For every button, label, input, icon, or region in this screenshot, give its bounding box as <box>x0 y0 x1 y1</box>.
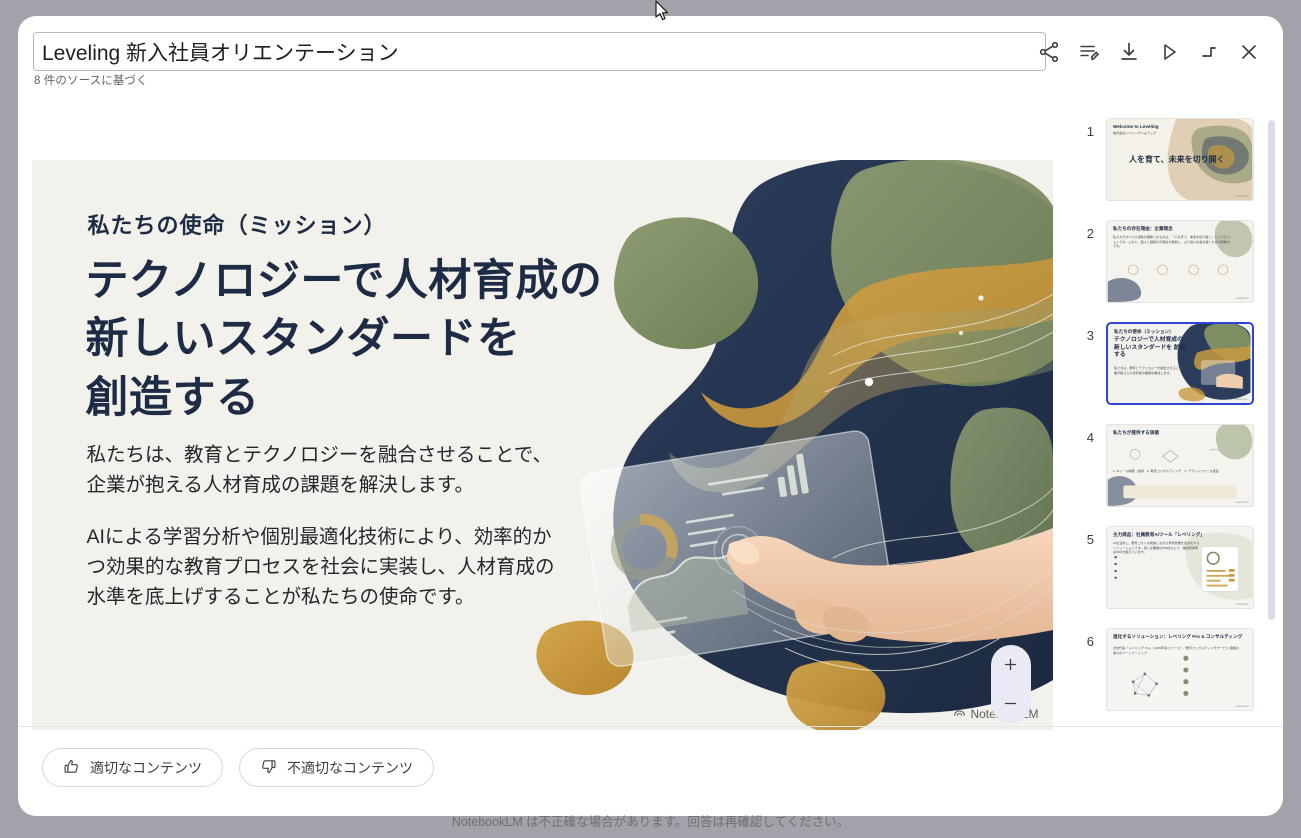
thumbnail-number: 4 <box>1076 424 1094 445</box>
slide-stage: 私たちの使命（ミッション） テクノロジーで人材育成の 新しいスタンダードを 創造… <box>18 106 1066 726</box>
share-icon <box>1037 40 1061 64</box>
thumbnail-footer: Leveling Inc. <box>1236 501 1249 504</box>
thumbnail-number: 5 <box>1076 526 1094 547</box>
thumbnail-title: 私たちが提供する価値 <box>1113 430 1219 436</box>
thumbnail-subtitle: 1. AIツール開発・提供 2. 教育コンサルティング 3. プラットフォーム運… <box>1113 469 1243 474</box>
thumbs-up-button[interactable]: 適切なコンテンツ <box>42 748 223 787</box>
thumbnail-number: 1 <box>1076 118 1094 139</box>
thumbnail-footer: Leveling Inc. <box>1236 705 1249 708</box>
thumbnail-big-text: 人を育て、未来を切り開く <box>1129 155 1225 165</box>
thumbnail-slide-5[interactable]: 主力商品：社員教育AIツール「レベリング」 AIを活用し、教育コストを削減しなが… <box>1106 526 1254 609</box>
thumbnail-footer: Leveling Inc. <box>1236 195 1249 198</box>
slide-paragraph-1: 私たちは、教育とテクノロジーを融合させることで、 企業が抱える人材育成の課題を解… <box>87 440 552 500</box>
thumbs-down-label: 不適切なコンテンツ <box>287 758 413 778</box>
thumbnail-subtitle: 私たちは、教育とテクノロジーを融合させることで、企業が抱える人材育成の課題を解決… <box>1114 366 1192 375</box>
thumbs-down-icon <box>260 758 277 778</box>
close-button[interactable] <box>1229 32 1269 72</box>
thumbnail-big-text: テクノロジーで人材育成の 新しいスタンダードを 創造する <box>1114 337 1186 360</box>
dialog-footer: 適切なコンテンツ 不適切なコンテンツ <box>18 726 1283 816</box>
collapse-icon <box>1197 40 1221 64</box>
slide-thumbnail-rail[interactable]: 1 Welcome to Leveling 株式会社レベリングへようこそ 人を育… <box>1066 106 1283 726</box>
thumbnail-number: 3 <box>1076 322 1094 343</box>
dialog-header: 8 件のソースに基づく <box>18 16 1283 106</box>
edit-list-icon <box>1077 40 1101 64</box>
thumbnail-row[interactable]: 3 私たちの使命（ミッション） テクノロジーで人材育成の 新しいスタンダードを … <box>1066 322 1283 405</box>
thumbnail-title: 主力商品：社員教育AIツール「レベリング」 <box>1113 532 1219 538</box>
notebooklm-logo-icon <box>953 706 966 722</box>
thumbnail-subtitle: AIを活用し、教育コストを削減しながら学習効果を最大化するソリューションです。導… <box>1113 541 1201 555</box>
current-slide[interactable]: 私たちの使命（ミッション） テクノロジーで人材育成の 新しいスタンダードを 創造… <box>32 160 1053 730</box>
thumbnail-slide-1[interactable]: Welcome to Leveling 株式会社レベリングへようこそ 人を育て、… <box>1106 118 1254 201</box>
play-icon <box>1157 40 1181 64</box>
thumbnail-footer: Leveling Inc. <box>1235 398 1248 401</box>
slide-paragraph-2: AIによる学習分析や個別最適化技術により、効率的か つ効果的な教育プロセスを社会… <box>87 522 555 613</box>
thumbnail-number: 6 <box>1076 628 1094 649</box>
dialog-body: 私たちの使命（ミッション） テクノロジーで人材育成の 新しいスタンダードを 創造… <box>18 106 1283 726</box>
zoom-in-button[interactable] <box>994 648 1028 682</box>
thumbnail-scrollbar[interactable] <box>1268 120 1275 620</box>
collapse-button[interactable] <box>1189 32 1229 72</box>
slide-headline: テクノロジーで人材育成の 新しいスタンダードを 創造する <box>86 252 603 427</box>
zoom-out-button[interactable] <box>994 687 1028 721</box>
thumbnail-footer: Leveling Inc. <box>1236 297 1249 300</box>
thumbnail-slide-4[interactable]: 私たちが提供する価値 1. AIツール開発・提供 2. 教育コンサルティング 3… <box>1106 424 1254 507</box>
thumbnail-subtitle: 私たちがすべての活動の根幹となるのは、「人を育て、未来を切り開く」というビジョン… <box>1113 235 1233 249</box>
thumbs-down-button[interactable]: 不適切なコンテンツ <box>239 748 434 787</box>
feedback-bar: 適切なコンテンツ 不適切なコンテンツ <box>42 748 434 787</box>
thumbnail-footer: Leveling Inc. <box>1236 603 1249 606</box>
slide-eyebrow: 私たちの使命（ミッション） <box>88 208 387 240</box>
edit-outline-button[interactable] <box>1069 32 1109 72</box>
download-button[interactable] <box>1109 32 1149 72</box>
share-button[interactable] <box>1029 32 1069 72</box>
thumbnail-subtitle: 次世代版「レベリング Pro」（2025年秋リリース）／教育コンサルティングサー… <box>1113 646 1245 655</box>
thumbs-up-icon <box>63 758 80 778</box>
thumbnail-title: 進化するソリューション：レベリング Pro & コンサルティング <box>1113 634 1247 640</box>
disclaimer-text: NotebookLM は不正確な場合があります。回答は再確認してください。 <box>0 811 1301 830</box>
play-button[interactable] <box>1149 32 1189 72</box>
thumbnail-title: Welcome to Leveling <box>1113 124 1219 130</box>
thumbnail-row[interactable]: 5 <box>1066 526 1283 609</box>
close-icon <box>1237 40 1261 64</box>
thumbnail-title: 私たちの存在理由：企業理念 <box>1113 226 1219 232</box>
deck-title-input[interactable] <box>33 32 1046 71</box>
thumbnail-slide-6[interactable]: 進化するソリューション：レベリング Pro & コンサルティング 次世代版「レベ… <box>1106 628 1254 711</box>
thumbnail-slide-2[interactable]: 私たちの存在理由：企業理念 私たちがすべての活動の根幹となるのは、「人を育て、未… <box>1106 220 1254 303</box>
slide-illustration <box>533 160 1053 730</box>
zoom-controls <box>991 645 1031 723</box>
source-count-label: 8 件のソースに基づく <box>34 72 148 88</box>
thumbnail-title: 私たちの使命（ミッション） <box>1114 329 1218 335</box>
thumbnail-row[interactable]: 4 私たちが提供する価値 1. AIツール開発・提供 <box>1066 424 1283 507</box>
thumbnail-slide-3[interactable]: 私たちの使命（ミッション） テクノロジーで人材育成の 新しいスタンダードを 創造… <box>1106 322 1254 405</box>
thumbs-up-label: 適切なコンテンツ <box>90 758 202 778</box>
thumbnail-row[interactable]: 6 <box>1066 628 1283 711</box>
header-action-bar <box>1029 32 1269 72</box>
thumbnail-row[interactable]: 2 私たちの存在理由：企業理念 私たちがすべての活動の根幹となるのは、「人を育て… <box>1066 220 1283 303</box>
download-icon <box>1117 40 1141 64</box>
thumbnail-row[interactable]: 1 Welcome to Leveling 株式会社レベリングへようこそ 人を育… <box>1066 118 1283 201</box>
slide-viewer-dialog: 8 件のソースに基づく <box>18 16 1283 816</box>
thumbnail-subtitle: 株式会社レベリングへようこそ <box>1113 131 1217 136</box>
thumbnail-number: 2 <box>1076 220 1094 241</box>
